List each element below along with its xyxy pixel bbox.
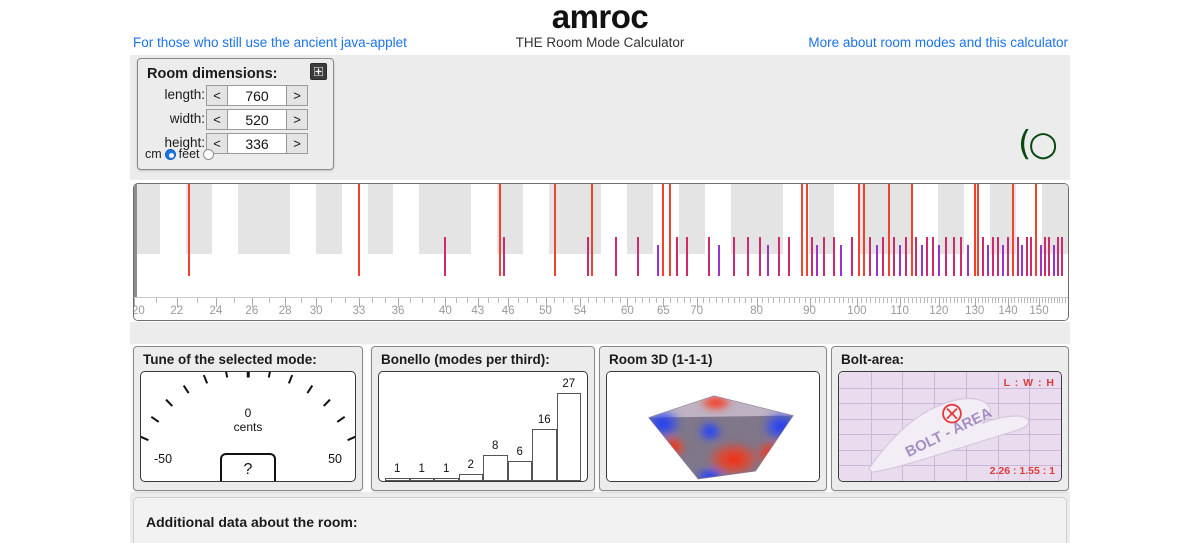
meter-tick bbox=[288, 374, 293, 383]
axis-tick bbox=[1068, 298, 1069, 303]
axis-tick bbox=[422, 298, 423, 303]
axis-tick bbox=[992, 298, 993, 303]
dimension-value[interactable]: 760 bbox=[228, 85, 286, 106]
mode-line-tangential[interactable] bbox=[1017, 237, 1019, 276]
axis-tick bbox=[467, 298, 468, 303]
axis-tick-label: 28 bbox=[279, 305, 292, 317]
axis-tick bbox=[1033, 298, 1034, 303]
mode-line-tangential[interactable] bbox=[1007, 237, 1009, 276]
amroc-room-mode-calculator: amroc THE Room Mode Calculator For those… bbox=[0, 0, 1200, 543]
app-title: amroc bbox=[0, 0, 1200, 36]
mode-line-tangential[interactable] bbox=[926, 237, 928, 276]
axis-tick bbox=[1011, 298, 1012, 303]
mode-line-tangential[interactable] bbox=[982, 237, 984, 276]
tuning-meter[interactable]: 0 cents -50 50 ? bbox=[141, 372, 355, 481]
mode-line-oblique[interactable] bbox=[987, 245, 989, 276]
bonello-bar bbox=[410, 478, 435, 481]
axis-tick bbox=[904, 298, 905, 303]
room3d-view[interactable] bbox=[607, 372, 819, 481]
axis-tick bbox=[924, 298, 925, 303]
bonello-bar bbox=[557, 393, 582, 481]
axis-tick bbox=[978, 298, 979, 303]
axis-tick bbox=[988, 298, 989, 303]
decrement-button[interactable]: < bbox=[206, 85, 228, 106]
bolt-panel-title: Bolt-area: bbox=[841, 352, 904, 367]
axis-tick-label: 120 bbox=[929, 305, 948, 317]
increment-button[interactable]: > bbox=[286, 85, 308, 106]
bolt-ratio-label: 2.26 : 1.55 : 1 bbox=[990, 465, 1055, 477]
tuning-min-label: -50 bbox=[154, 452, 172, 466]
tune-panel-title: Tune of the selected mode: bbox=[143, 352, 317, 367]
bonello-bar-value: 16 bbox=[538, 414, 551, 426]
bonello-bar-value: 1 bbox=[394, 463, 400, 475]
axis-tick bbox=[998, 298, 999, 303]
mode-line-oblique[interactable] bbox=[718, 245, 720, 276]
axis-tick bbox=[805, 298, 806, 303]
axis-tick bbox=[554, 298, 555, 303]
axis-tick bbox=[301, 298, 302, 303]
bonello-bar-value: 1 bbox=[419, 463, 425, 475]
axis-tick bbox=[635, 298, 636, 303]
room-dimensions-panel: Room dimensions: length:<760>width:<520>… bbox=[137, 58, 334, 170]
unit-cm-label: cm bbox=[145, 147, 162, 161]
axis-tick-label: 24 bbox=[209, 305, 222, 317]
axis-tick bbox=[887, 298, 888, 303]
mid-background-band bbox=[130, 322, 1070, 344]
axis-tick bbox=[1030, 298, 1031, 303]
x-axis: 2022242628303336404346505460657080901001… bbox=[134, 297, 1068, 320]
axis-tick bbox=[456, 298, 457, 303]
axis-tick bbox=[968, 298, 969, 303]
increment-button[interactable]: > bbox=[286, 133, 308, 154]
mode-line-tangential[interactable] bbox=[882, 237, 884, 276]
axis-tick-label: 65 bbox=[657, 305, 670, 317]
mode-line-tangential[interactable] bbox=[615, 237, 617, 276]
axis-tick bbox=[572, 298, 573, 303]
mode-line-tangential[interactable] bbox=[997, 237, 999, 276]
axis-tick-label: 43 bbox=[471, 305, 484, 317]
bonello-bar-value: 2 bbox=[468, 459, 474, 471]
axis-tick bbox=[197, 298, 198, 303]
mode-line-tangential[interactable] bbox=[733, 237, 735, 276]
axis-tick bbox=[1045, 298, 1046, 303]
mode-line-tangential[interactable] bbox=[503, 237, 505, 276]
axis-tick-label: 60 bbox=[621, 305, 634, 317]
mode-line-oblique[interactable] bbox=[938, 245, 940, 276]
axis-tick bbox=[709, 298, 710, 303]
bonello-chart: 1112861627 bbox=[385, 376, 581, 481]
mode-line-tangential[interactable] bbox=[851, 237, 853, 276]
axis-tick bbox=[488, 298, 489, 303]
axis-tick bbox=[1065, 298, 1066, 303]
axis-tick bbox=[345, 298, 346, 303]
tuning-max-label: 50 bbox=[328, 452, 342, 466]
mode-line-oblique[interactable] bbox=[876, 245, 878, 276]
axis-tick bbox=[870, 298, 871, 303]
bolt-panel-body[interactable]: BOLT - AREA L : W : H 2.26 : 1.55 : 1 bbox=[838, 371, 1062, 482]
axis-tick bbox=[331, 298, 332, 303]
additional-data-title: Additional data about the room: bbox=[146, 514, 358, 530]
axis-tick bbox=[656, 298, 657, 303]
tune-panel-body[interactable]: 0 cents -50 50 ? bbox=[140, 371, 356, 482]
axis-tick-label: 140 bbox=[998, 305, 1017, 317]
analysis-panels: Tune of the selected mode: 0 cents -50 5… bbox=[133, 346, 1069, 491]
axis-tick-label: 54 bbox=[574, 305, 587, 317]
expand-panel-button[interactable] bbox=[310, 63, 327, 80]
dimension-stepper: <520> bbox=[206, 109, 308, 130]
axis-tick-label: 30 bbox=[310, 305, 323, 317]
mode-line-oblique[interactable] bbox=[899, 245, 901, 276]
axis-tick bbox=[385, 298, 386, 303]
axis-tick bbox=[834, 298, 835, 303]
axis-tick bbox=[985, 298, 986, 303]
axis-tick bbox=[896, 298, 897, 303]
axis-tick bbox=[536, 298, 537, 303]
axis-tick bbox=[964, 298, 965, 303]
mode-line-tangential[interactable] bbox=[1048, 237, 1050, 276]
more-about-link[interactable]: More about room modes and this calculato… bbox=[808, 35, 1068, 50]
axis-tick bbox=[527, 298, 528, 303]
axis-tick bbox=[1036, 298, 1037, 303]
axis-tick bbox=[734, 298, 735, 303]
dimension-row-width: width:<520> bbox=[138, 109, 333, 131]
meter-tick bbox=[183, 384, 190, 393]
meter-tick bbox=[268, 371, 272, 377]
axis-tick bbox=[784, 298, 785, 303]
axis-tick bbox=[773, 298, 774, 303]
axis-tick bbox=[935, 298, 936, 303]
axis-tick bbox=[690, 298, 691, 303]
axis-tick bbox=[819, 298, 820, 303]
axis-tick bbox=[612, 298, 613, 303]
axis-tick bbox=[943, 298, 944, 303]
dimension-label: width: bbox=[170, 111, 205, 126]
mode-line-tangential[interactable] bbox=[1061, 237, 1063, 276]
axis-tick bbox=[620, 298, 621, 303]
bonello-bar-value: 27 bbox=[562, 378, 575, 390]
axis-tick bbox=[927, 298, 928, 303]
dimension-label: length: bbox=[164, 87, 205, 102]
mode-line-oblique[interactable] bbox=[921, 245, 923, 276]
bonello-bar bbox=[385, 478, 410, 481]
axis-tick bbox=[156, 298, 157, 303]
mode-line-tangential[interactable] bbox=[1044, 237, 1046, 276]
mode-line-tangential[interactable] bbox=[960, 237, 962, 276]
mode-line-oblique[interactable] bbox=[1021, 245, 1023, 276]
bonello-panel: Bonello (modes per third): 1112861627 bbox=[371, 346, 595, 491]
axis-tick bbox=[852, 298, 853, 303]
axis-tick bbox=[684, 298, 685, 303]
mode-line-tangential[interactable] bbox=[945, 237, 947, 276]
mode-line-oblique[interactable] bbox=[1002, 245, 1004, 276]
bolt-panel: Bolt-area: BOLT - AREA L : W : H 2.26 : … bbox=[831, 346, 1069, 491]
axis-tick bbox=[739, 298, 740, 303]
mode-line-tangential[interactable] bbox=[637, 237, 639, 276]
axis-tick bbox=[649, 298, 650, 303]
mode-line-tangential[interactable] bbox=[1030, 237, 1032, 276]
meter-tick bbox=[140, 435, 149, 440]
axis-tick bbox=[1002, 298, 1003, 303]
mode-line-tangential[interactable] bbox=[992, 237, 994, 276]
axis-tick-label: 80 bbox=[750, 305, 763, 317]
tuning-center-unit: cents bbox=[234, 420, 263, 434]
tuning-center-value: 0 bbox=[245, 406, 252, 420]
axis-tick-label: 33 bbox=[353, 305, 366, 317]
axis-tick bbox=[824, 298, 825, 303]
axis-tick-label: 36 bbox=[392, 305, 405, 317]
bonello-bar bbox=[508, 461, 533, 481]
axis-tick bbox=[920, 298, 921, 303]
tuning-readout: ? bbox=[220, 453, 276, 482]
schroeder-left-divider bbox=[134, 186, 1069, 204]
axis-tick bbox=[434, 298, 435, 303]
mode-line-oblique[interactable] bbox=[1040, 245, 1042, 276]
additional-data-panel: Additional data about the room: bbox=[133, 497, 1067, 543]
axis-tick bbox=[957, 298, 958, 303]
axis-tick bbox=[1051, 298, 1052, 303]
mode-line-tangential[interactable] bbox=[759, 237, 761, 276]
meter-tick bbox=[225, 371, 229, 377]
axis-tick-label: 110 bbox=[891, 305, 909, 317]
mode-line-oblique[interactable] bbox=[967, 245, 969, 276]
meter-tick bbox=[307, 384, 314, 393]
mode-line-tangential[interactable] bbox=[747, 237, 749, 276]
axis-tick bbox=[848, 298, 849, 303]
mode-line-oblique[interactable] bbox=[767, 245, 769, 276]
axis-tick bbox=[829, 298, 830, 303]
axis-tick bbox=[642, 298, 643, 303]
mode-line-tangential[interactable] bbox=[1057, 237, 1059, 276]
unit-feet-label: feet bbox=[179, 147, 200, 161]
axis-tick bbox=[879, 298, 880, 303]
axis-tick bbox=[982, 298, 983, 303]
mode-line-tangential[interactable] bbox=[676, 237, 678, 276]
axis-tick-label: 26 bbox=[245, 305, 258, 317]
axis-tick bbox=[269, 298, 270, 303]
mode-line-tangential[interactable] bbox=[1026, 237, 1028, 276]
axis-tick bbox=[1059, 298, 1060, 303]
room3d-svg bbox=[607, 372, 819, 481]
axis-tick bbox=[1005, 298, 1006, 303]
increment-button[interactable]: > bbox=[286, 109, 308, 130]
axis-tick bbox=[751, 298, 752, 303]
mode-line-tangential[interactable] bbox=[953, 237, 955, 276]
axis-tick-label: 20 bbox=[133, 305, 145, 317]
axis-tick bbox=[1024, 298, 1025, 303]
axis-tick-label: 50 bbox=[539, 305, 552, 317]
java-applet-link[interactable]: For those who still use the ancient java… bbox=[133, 35, 407, 50]
axis-tick bbox=[498, 298, 499, 303]
speaker-icon: (○ bbox=[1018, 124, 1055, 164]
axis-tick bbox=[971, 298, 972, 303]
bonello-bar bbox=[459, 474, 484, 481]
mode-line-tangential[interactable] bbox=[708, 237, 710, 276]
mode-line-oblique[interactable] bbox=[840, 245, 842, 276]
axis-tick bbox=[1042, 298, 1043, 303]
axis-tick bbox=[703, 298, 704, 303]
page-header: amroc THE Room Mode Calculator For those… bbox=[0, 0, 1200, 55]
axis-tick bbox=[815, 298, 816, 303]
bonello-bar bbox=[483, 455, 508, 481]
bonello-bar-value: 8 bbox=[492, 440, 498, 452]
axis-tick-label: 46 bbox=[502, 305, 515, 317]
axis-tick bbox=[995, 298, 996, 303]
unit-feet-radio[interactable] bbox=[203, 149, 214, 160]
mode-line-oblique[interactable] bbox=[1053, 245, 1055, 276]
axis-tick bbox=[670, 298, 671, 303]
axis-tick bbox=[961, 298, 962, 303]
axis-tick bbox=[779, 298, 780, 303]
axis-tick bbox=[794, 298, 795, 303]
bolt-axes-label: L : W : H bbox=[1004, 377, 1055, 389]
axis-tick bbox=[518, 298, 519, 303]
axis-tick bbox=[728, 298, 729, 303]
mode-line-oblique[interactable] bbox=[816, 245, 818, 276]
axis-tick bbox=[1021, 298, 1022, 303]
axis-tick-label: 70 bbox=[690, 305, 703, 317]
axis-tick bbox=[789, 298, 790, 303]
dimension-row-length: length:<760> bbox=[138, 85, 333, 107]
mode-line-tangential[interactable] bbox=[905, 237, 907, 276]
axis-tick-label: 130 bbox=[965, 305, 984, 317]
bonello-bar-value: 6 bbox=[517, 446, 523, 458]
tuning-center-label: 0 cents bbox=[141, 406, 355, 434]
mode-line-tangential[interactable] bbox=[587, 237, 589, 276]
axis-tick bbox=[916, 298, 917, 303]
dimension-stepper: <336> bbox=[206, 133, 308, 154]
axis-tick bbox=[1062, 298, 1063, 303]
axis-tick bbox=[950, 298, 951, 303]
meter-tick bbox=[247, 371, 250, 377]
dimension-stepper: <760> bbox=[206, 85, 308, 106]
axis-tick bbox=[410, 298, 411, 303]
mode-line-tangential[interactable] bbox=[686, 237, 688, 276]
axis-tick bbox=[1048, 298, 1049, 303]
axis-tick bbox=[908, 298, 909, 303]
axis-tick bbox=[234, 298, 235, 303]
unit-cm-radio[interactable] bbox=[165, 149, 176, 160]
unit-selector: cm feet bbox=[145, 147, 214, 161]
mode-line-tangential[interactable] bbox=[869, 237, 871, 276]
axis-tick bbox=[745, 298, 746, 303]
bonello-panel-body[interactable]: 1112861627 bbox=[378, 371, 588, 482]
mode-spectrum-chart[interactable]: Schroeder-Fq (RT60=0.6s) > 2022242628303… bbox=[133, 183, 1069, 321]
mode-line-tangential[interactable] bbox=[893, 237, 895, 276]
axis-tick bbox=[946, 298, 947, 303]
mode-line-tangential[interactable] bbox=[833, 237, 835, 276]
axis-tick bbox=[716, 298, 717, 303]
tune-panel: Tune of the selected mode: 0 cents -50 5… bbox=[133, 346, 363, 491]
axis-tick bbox=[1018, 298, 1019, 303]
axis-tick bbox=[843, 298, 844, 303]
axis-tick-label: 22 bbox=[170, 305, 183, 317]
axis-tick bbox=[722, 298, 723, 303]
axis-tick bbox=[372, 298, 373, 303]
axis-tick bbox=[677, 298, 678, 303]
mode-line-tangential[interactable] bbox=[778, 237, 780, 276]
axis-tick bbox=[1014, 298, 1015, 303]
meter-tick bbox=[347, 435, 356, 440]
room3d-panel-title: Room 3D (1-1-1) bbox=[609, 352, 713, 367]
mode-line-tangential[interactable] bbox=[788, 237, 790, 276]
axis-tick bbox=[861, 298, 862, 303]
axis-tick bbox=[954, 298, 955, 303]
mode-line-oblique[interactable] bbox=[657, 245, 659, 276]
axis-tick-label: 90 bbox=[803, 305, 816, 317]
axis-tick bbox=[588, 298, 589, 303]
axis-tick bbox=[1027, 298, 1028, 303]
room3d-panel-body[interactable] bbox=[606, 371, 820, 482]
mode-line-tangential[interactable] bbox=[823, 237, 825, 276]
axis-tick bbox=[563, 298, 564, 303]
mode-line-tangential[interactable] bbox=[932, 237, 934, 276]
axis-tick bbox=[839, 298, 840, 303]
decrement-button[interactable]: < bbox=[206, 109, 228, 130]
bonello-bar bbox=[434, 478, 459, 481]
mode-line-tangential[interactable] bbox=[915, 237, 917, 276]
mode-line-tangential[interactable] bbox=[444, 237, 446, 276]
mode-line-tangential[interactable] bbox=[811, 237, 813, 276]
axis-tick bbox=[762, 298, 763, 303]
axis-tick-label: 150 bbox=[1029, 305, 1048, 317]
axis-tick bbox=[891, 298, 892, 303]
bonello-panel-title: Bonello (modes per third): bbox=[381, 352, 550, 367]
axis-tick bbox=[931, 298, 932, 303]
axis-tick bbox=[1054, 298, 1055, 303]
bonello-bar-value: 1 bbox=[443, 463, 449, 475]
axis-tick bbox=[912, 298, 913, 303]
axis-tick-label: 40 bbox=[439, 305, 452, 317]
axis-tick bbox=[768, 298, 769, 303]
bonello-bar bbox=[532, 429, 557, 481]
dimension-value[interactable]: 336 bbox=[228, 133, 286, 154]
meter-tick bbox=[203, 374, 208, 383]
axis-tick bbox=[875, 298, 876, 303]
axis-tick bbox=[883, 298, 884, 303]
axis-tick bbox=[799, 298, 800, 303]
axis-tick bbox=[596, 298, 597, 303]
axis-tick-label: 100 bbox=[847, 305, 866, 317]
axis-tick bbox=[866, 298, 867, 303]
axis-tick bbox=[604, 298, 605, 303]
room3d-panel: Room 3D (1-1-1) bbox=[599, 346, 827, 491]
room-dimensions-title: Room dimensions: bbox=[147, 66, 278, 82]
plus-icon bbox=[314, 67, 323, 76]
axis-tick bbox=[1057, 298, 1058, 303]
dimension-value[interactable]: 520 bbox=[228, 109, 286, 130]
bolt-area-chart[interactable]: BOLT - AREA L : W : H 2.26 : 1.55 : 1 bbox=[839, 372, 1061, 481]
